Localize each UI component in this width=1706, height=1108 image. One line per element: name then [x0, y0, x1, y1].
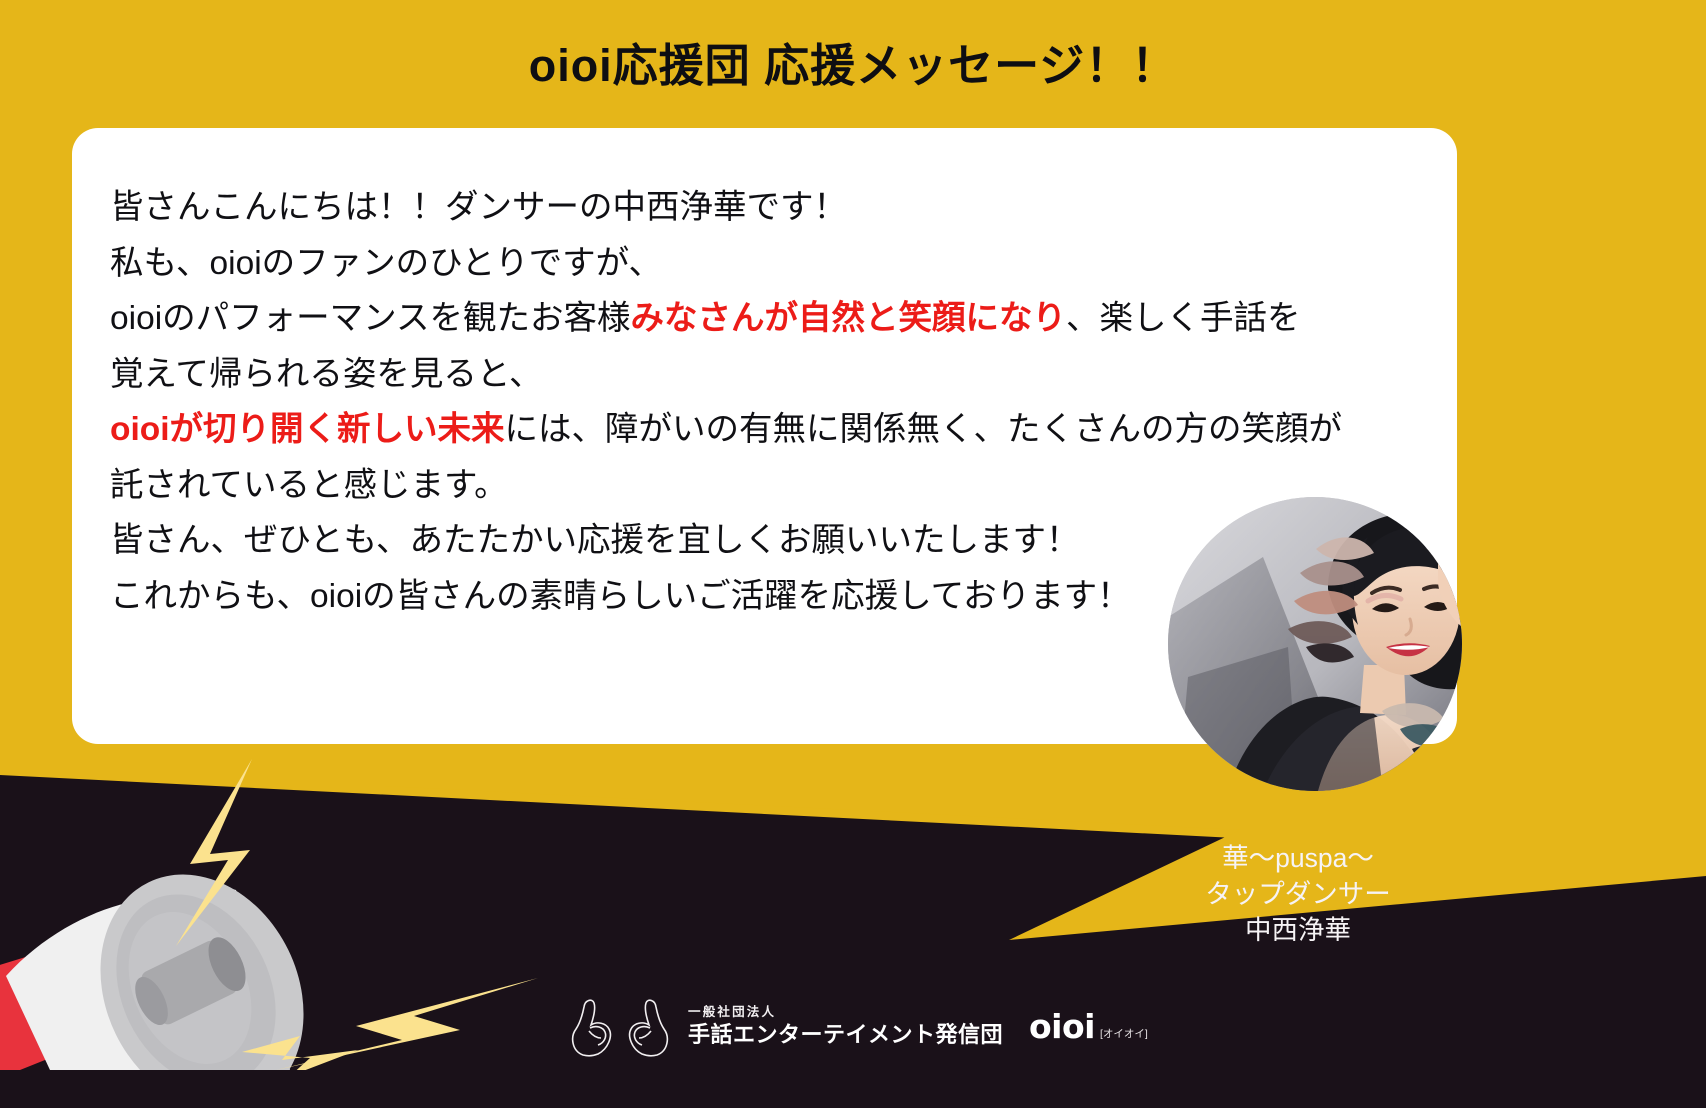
message-line: 託されていると感じます。: [110, 458, 1430, 514]
message-text: これからも、oioiの皆さんの素晴らしいご活躍を応援しております！: [110, 578, 1131, 615]
message-line: 覚えて帰られる姿を見ると、: [110, 347, 1430, 403]
message-text: 託されていると感じます。: [110, 467, 508, 504]
message-emphasis: oioiが切り開く新しい未来: [110, 411, 505, 448]
credit-block: 華〜puspa〜 タップダンサー 中西浄華: [1108, 840, 1488, 948]
sign-language-hands-icon: [566, 995, 674, 1057]
portrait-image: [1168, 497, 1462, 791]
message-line: oioiが切り開く新しい未来には、障がいの有無に関係無く、たくさんの方の笑顔が: [110, 402, 1430, 458]
page-title: oioi応援団 応援メッセージ！！: [0, 29, 1706, 94]
avatar: [1168, 497, 1462, 791]
message-text: oioiのパフォーマンスを観たお客様: [110, 300, 630, 337]
message-line: 皆さんこんにちは！！ダンサーの中西浄華です！: [110, 180, 1430, 236]
oioi-wordmark: oioi: [1029, 1007, 1095, 1046]
credit-line-3: 中西浄華: [1108, 912, 1488, 948]
oioi-kana-reading: [オイオイ]: [1100, 1026, 1148, 1046]
message-text: には、障がいの有無に関係無く、たくさんの方の笑顔が: [505, 411, 1343, 448]
message-text: 、楽しく手話を: [1066, 300, 1301, 337]
footer-logo: 一般社団法人 手話エンターテイメント発信団 oioi [オイオイ]: [566, 995, 1148, 1057]
message-text: 覚えて帰られる姿を見ると、: [110, 356, 542, 393]
message-line: oioiのパフォーマンスを観たお客様みなさんが自然と笑顔になり、楽しく手話を: [110, 291, 1430, 347]
org-legal-type: 一般社団法人: [688, 1006, 1003, 1019]
poster-canvas: oioi応援団 応援メッセージ！！ 皆さんこんにちは！！ダンサーの中西浄華です！…: [0, 0, 1706, 1108]
message-emphasis: みなさんが自然と笑顔になり: [630, 300, 1066, 337]
credit-line-2: タップダンサー: [1108, 876, 1488, 912]
org-name: 一般社団法人 手話エンターテイメント発信団: [688, 1006, 1003, 1046]
message-text: 皆さんこんにちは！！ダンサーの中西浄華です！: [110, 189, 847, 226]
org-title: 手話エンターテイメント発信団: [688, 1024, 1003, 1046]
message-text: 皆さん、ぜひとも、あたたかい応援を宜しくお願いいたします！: [110, 522, 1080, 559]
credit-line-1: 華〜puspa〜: [1108, 840, 1488, 876]
message-text: 私も、oioiのファンのひとりですが、: [110, 245, 662, 282]
oioi-logo: oioi [オイオイ]: [1029, 1007, 1148, 1046]
message-line: 私も、oioiのファンのひとりですが、: [110, 236, 1430, 292]
megaphone-icon: [0, 740, 550, 1070]
